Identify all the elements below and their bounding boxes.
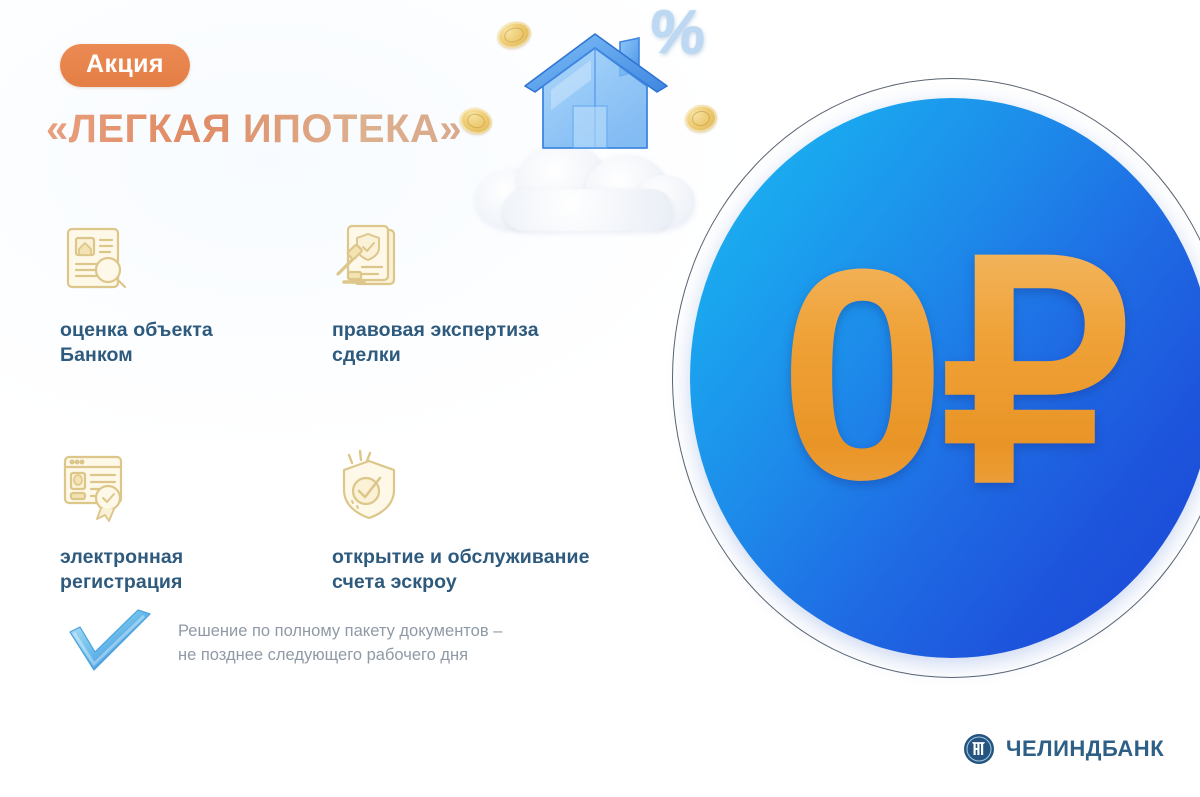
gavel-document-shield-icon <box>332 222 406 296</box>
price-disc: 0₽ <box>690 98 1200 658</box>
feature-label: открытие и обслуживание счета эскроу <box>332 545 604 596</box>
feature-item-legal-review: правовая экспертиза сделки <box>332 222 604 369</box>
feature-item-escrow: открытие и обслуживание счета эскроу <box>332 449 604 596</box>
feature-item-appraisal: оценка объекта Банком <box>60 222 332 369</box>
blue-checkmark-icon <box>64 608 156 680</box>
price-highlight: 0₽ <box>672 78 1200 678</box>
promo-banner: Акция «ЛЕГКАЯ ИПОТЕКА» <box>0 0 1200 797</box>
chelindbank-emblem-icon <box>963 733 995 765</box>
feature-row: оценка объекта Банком <box>60 222 680 369</box>
feature-item-e-registration: электронная регистрация <box>60 449 332 596</box>
gold-coin-icon <box>457 105 494 138</box>
feature-label: оценка объекта Банком <box>60 318 332 369</box>
bank-logo: ЧЕЛИНДБАНК <box>963 733 1164 765</box>
shield-check-icon <box>332 449 406 523</box>
bank-logo-name: ЧЕЛИНДБАНК <box>1006 738 1164 760</box>
document-house-magnifier-icon <box>60 222 134 296</box>
promo-badge: Акция <box>60 44 190 87</box>
feature-list: оценка объекта Банком <box>60 222 680 595</box>
browser-certificate-badge-icon <box>60 449 134 523</box>
footnote: Решение по полному пакету документов – н… <box>64 608 604 680</box>
price-value: 0₽ <box>690 98 1200 658</box>
footnote-text: Решение по полному пакету документов – н… <box>178 620 502 668</box>
page-title: «ЛЕГКАЯ ИПОТЕКА» <box>46 108 462 150</box>
percent-symbol: % <box>648 2 707 64</box>
feature-label: правовая экспертиза сделки <box>332 318 604 369</box>
feature-row: электронная регистрация открытие и обслу… <box>60 449 680 596</box>
feature-label: электронная регистрация <box>60 545 332 596</box>
